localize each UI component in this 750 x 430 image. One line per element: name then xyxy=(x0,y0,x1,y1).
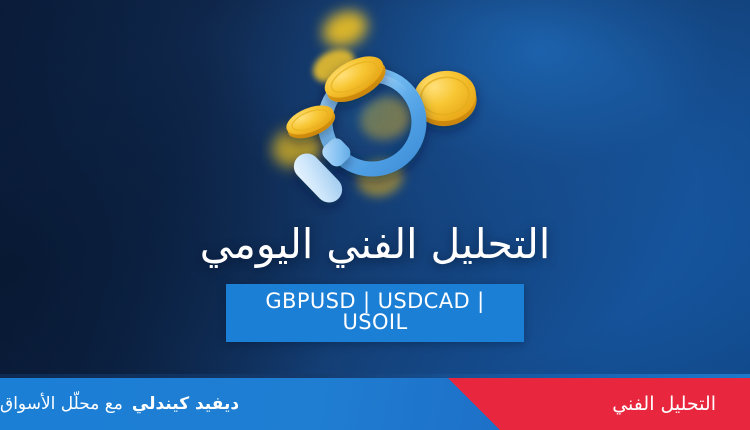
instruments-chip: GBPUSD | USDCAD | USOIL xyxy=(226,284,524,342)
analyst-lead-label: مع محلّل الأسواق xyxy=(0,394,123,414)
footer-bar: ديفيد كيندلي مع محلّل الأسواق التحليل ال… xyxy=(0,378,750,430)
instruments-chip-wrapper: GBPUSD | USDCAD | USOIL xyxy=(0,284,750,342)
footer-analyst-credit: ديفيد كيندلي مع محلّل الأسواق xyxy=(0,378,430,430)
promo-banner: التحليل الفني اليومي GBPUSD | USDCAD | U… xyxy=(0,0,750,430)
blurred-coin-top xyxy=(317,5,372,54)
page-title: التحليل الفني اليومي xyxy=(0,218,750,270)
analyst-name: ديفيد كيندلي xyxy=(132,394,239,414)
footer-category-label: التحليل الفني xyxy=(612,378,716,430)
magnifying-glass-icon xyxy=(262,0,492,215)
